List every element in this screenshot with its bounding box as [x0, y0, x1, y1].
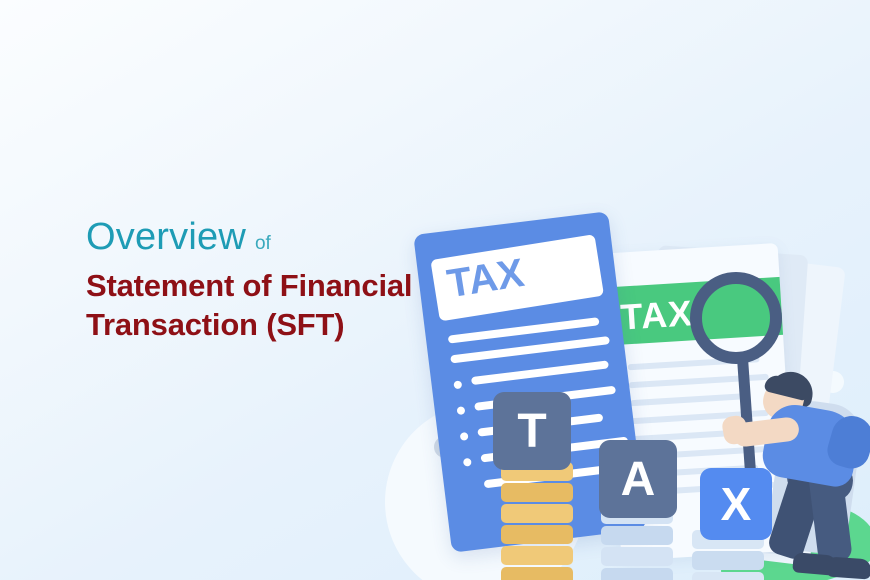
document-blue-line: [471, 360, 609, 385]
page-title-line-2: Transaction (SFT): [86, 305, 466, 344]
document-blue-bullet: [457, 406, 466, 415]
headline-block: Overview of Statement of Financial Trans…: [86, 218, 466, 344]
letter-block-t: T: [493, 392, 571, 470]
page-title-line-1: Statement of Financial: [86, 266, 466, 305]
letter-block-x: X: [700, 468, 772, 540]
person-shoe-front: [826, 556, 870, 579]
eyebrow-suffix: of: [255, 233, 271, 255]
document-blue-bullet: [453, 380, 462, 389]
eyebrow-text: Overview: [86, 218, 246, 258]
letter-block-a: A: [599, 440, 677, 518]
eyebrow-row: Overview of: [86, 218, 466, 258]
document-green-band-label: TAX: [619, 292, 694, 338]
document-green-line: [630, 393, 750, 406]
magnifier-ring: [690, 272, 782, 364]
banner-hero: TAX TAX: [0, 0, 870, 580]
document-blue-bullet: [460, 432, 469, 441]
document-blue-bullet: [463, 458, 472, 467]
page-title: Statement of Financial Transaction (SFT): [86, 266, 466, 344]
